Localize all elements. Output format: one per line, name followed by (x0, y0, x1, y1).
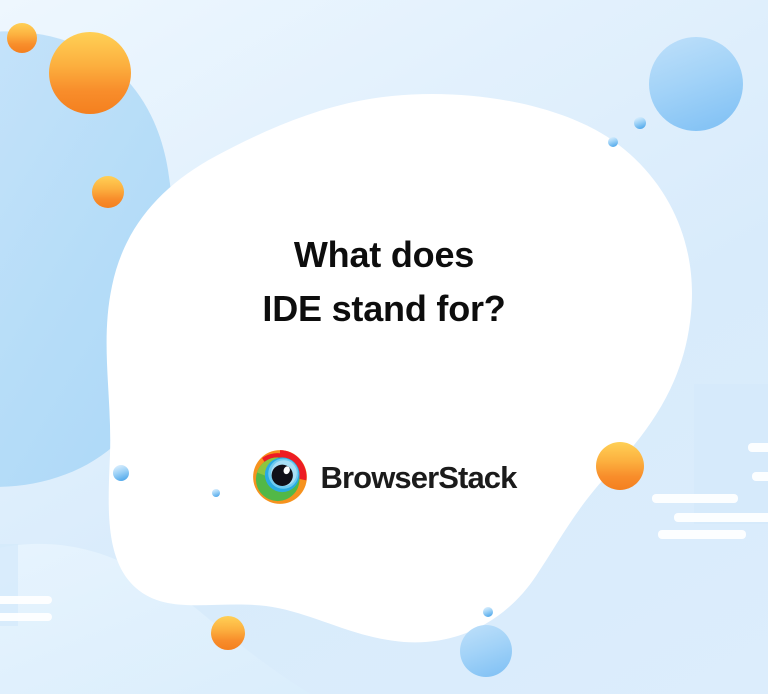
headline-line-1: What does (0, 228, 768, 282)
browserstack-eye-icon (252, 449, 308, 505)
brand-wordmark: BrowserStack (321, 462, 517, 493)
headline-line-2: IDE stand for? (0, 282, 768, 336)
white-blob (107, 94, 692, 642)
brand-logo: BrowserStack (0, 449, 768, 505)
promo-card: What does IDE stand for? BrowserStack (0, 0, 768, 694)
page-title: What does IDE stand for? (0, 228, 768, 336)
background-blobs (0, 0, 768, 694)
